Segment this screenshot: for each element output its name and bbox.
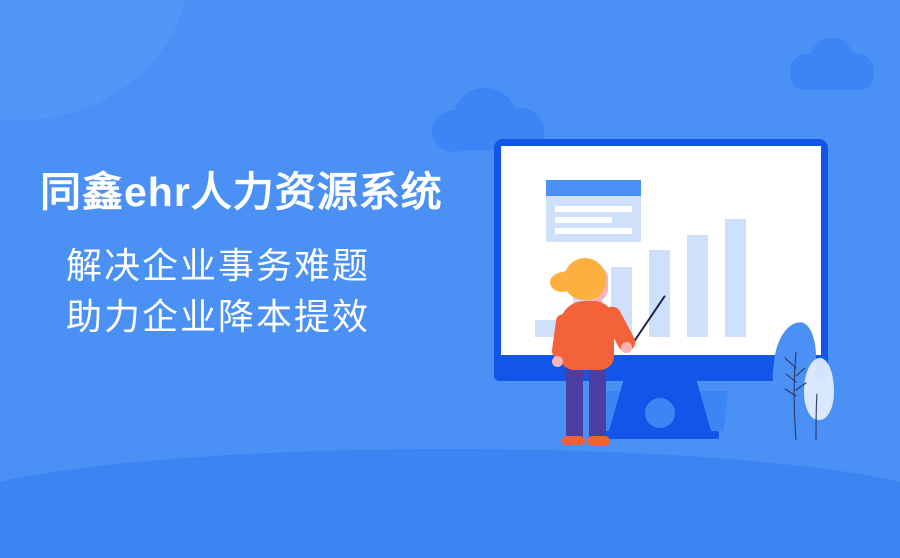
subtitle-line-1: 解决企业事务难题: [66, 240, 470, 291]
subtitle-block: 解决企业事务难题 助力企业降本提效: [40, 240, 470, 342]
person-torso-lower: [560, 336, 614, 370]
cloud-right-icon: [790, 38, 874, 90]
headline-block: 同鑫ehr人力资源系统 解决企业事务难题 助力企业降本提效: [40, 168, 470, 343]
decorative-plant: [772, 322, 842, 442]
monitor-stand-knob: [645, 398, 675, 428]
person-hair: [564, 258, 606, 300]
person-hand-right: [621, 342, 632, 353]
background-ground-curve: [0, 449, 900, 558]
presenter-person: [548, 258, 638, 444]
person-shoe-right: [587, 436, 610, 445]
background-blob-top-left: [0, 0, 190, 120]
person-leg-left: [566, 362, 583, 438]
person-leg-right: [589, 362, 606, 438]
chart-bar: [649, 250, 670, 337]
person-hand-left: [552, 356, 563, 367]
page-title: 同鑫ehr人力资源系统: [40, 168, 470, 216]
chart-bar: [725, 219, 746, 337]
plant-stem-icon: [772, 322, 842, 442]
subtitle-line-2: 助力企业降本提效: [66, 291, 470, 342]
person-shoe-left: [562, 436, 585, 445]
chart-bar: [687, 235, 708, 337]
promo-banner: 同鑫ehr人力资源系统 解决企业事务难题 助力企业降本提效: [0, 0, 900, 558]
